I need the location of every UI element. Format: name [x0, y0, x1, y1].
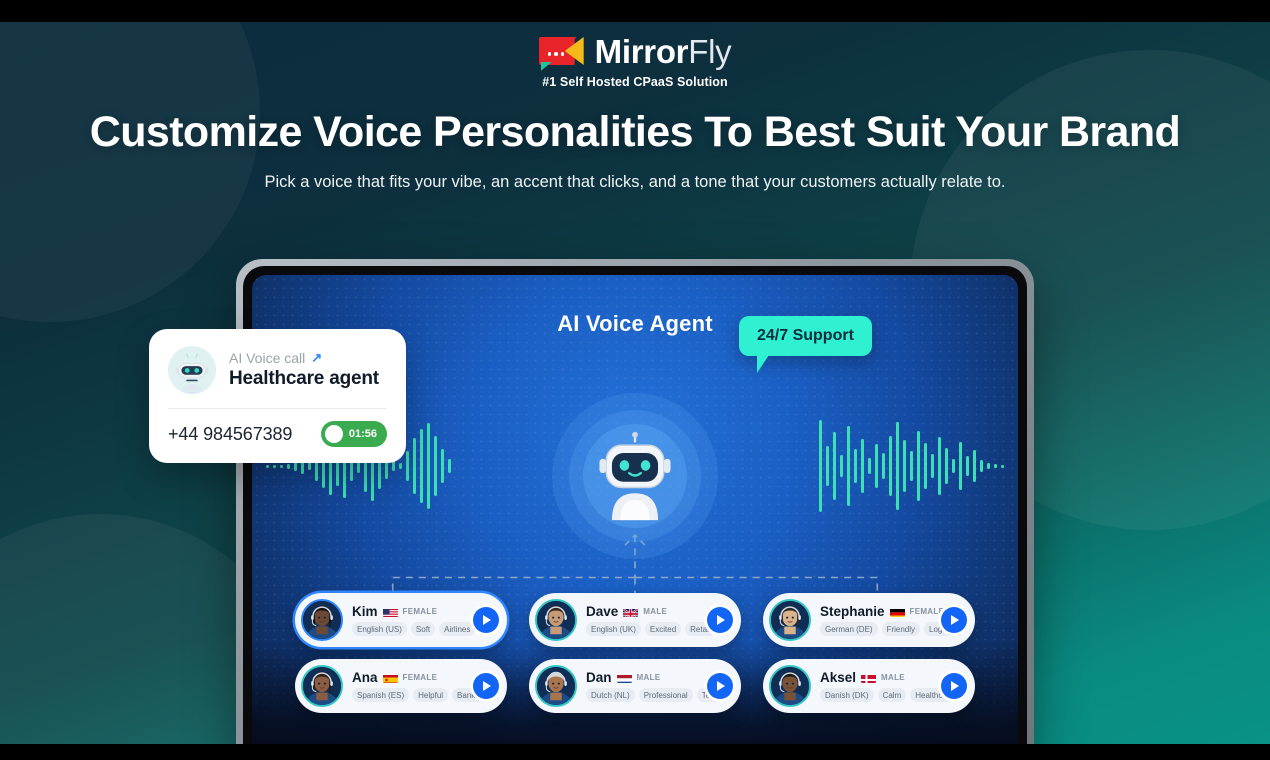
avatar — [535, 665, 577, 707]
voice-card-body: DanMALEDutch (NL)ProfessionalTelco — [586, 670, 698, 702]
voice-name: Dave — [586, 604, 618, 619]
letterbox-bottom — [0, 744, 1270, 760]
flag-icon-nl — [617, 672, 632, 683]
play-icon[interactable] — [707, 607, 733, 633]
voice-tags: Dutch (NL)ProfessionalTelco — [586, 688, 698, 702]
voice-tags: Danish (DK)CalmHealthcare — [820, 688, 932, 702]
arrow-up-right-icon: ↗ — [311, 350, 322, 366]
support-badge-label: 24/7 Support — [757, 327, 854, 344]
voice-card-heading: StephanieFEMALE — [820, 604, 932, 619]
brand-tagline: #1 Self Hosted CPaaS Solution — [0, 75, 1270, 89]
page-subtitle: Pick a voice that fits your vibe, an acc… — [0, 173, 1270, 192]
voice-gender: MALE — [881, 673, 905, 682]
voice-tag: Airlines — [439, 622, 475, 636]
voice-gender: FEMALE — [910, 607, 945, 616]
voice-tag: German (DE) — [820, 622, 878, 636]
avatar — [535, 599, 577, 641]
voice-card-dave[interactable]: DaveMALEEnglish (UK)ExcitedRetail — [529, 593, 741, 647]
avatar — [769, 665, 811, 707]
play-icon[interactable] — [941, 607, 967, 633]
voice-tag: Soft — [411, 622, 435, 636]
avatar — [168, 346, 216, 394]
play-icon[interactable] — [707, 673, 733, 699]
voice-card-heading: KimFEMALE — [352, 604, 464, 619]
hero-header: MirrorFly #1 Self Hosted CPaaS Solution … — [0, 0, 1270, 192]
voice-card-heading: DanMALE — [586, 670, 698, 685]
call-card-footer: +44 984567389 01:56 — [168, 421, 387, 447]
voice-tag: Calm — [878, 688, 907, 702]
voice-tag: Dutch (NL) — [586, 688, 635, 702]
flag-icon-de — [890, 606, 905, 617]
voice-tag: English (UK) — [586, 622, 641, 636]
voice-card-aksel[interactable]: AkselMALEDanish (DK)CalmHealthcare — [763, 659, 975, 713]
flag-icon-us — [383, 606, 398, 617]
call-type-text: AI Voice call — [229, 350, 305, 366]
agent-name: Healthcare agent — [229, 368, 387, 390]
voice-gender: FEMALE — [403, 673, 438, 682]
voice-tags: German (DE)FriendlyLogistics — [820, 622, 932, 636]
brand-name-bold: Mirror — [595, 33, 689, 70]
voice-tag: Friendly — [882, 622, 920, 636]
voice-tags: English (UK)ExcitedRetail — [586, 622, 698, 636]
voice-name: Stephanie — [820, 604, 885, 619]
voice-column-2: DaveMALEEnglish (UK)ExcitedRetailDanMALE… — [529, 593, 741, 713]
voice-name: Aksel — [820, 670, 856, 685]
mirrorfly-chat-logo-icon — [539, 35, 585, 69]
voice-card-body: DaveMALEEnglish (UK)ExcitedRetail — [586, 604, 698, 636]
voice-card-heading: DaveMALE — [586, 604, 698, 619]
voice-tag: Professional — [639, 688, 693, 702]
voice-tag: English (US) — [352, 622, 407, 636]
phone-number: +44 984567389 — [168, 424, 292, 445]
voice-gender: MALE — [643, 607, 667, 616]
voice-card-body: KimFEMALEEnglish (US)SoftAirlines — [352, 604, 464, 636]
screenshot-stage: MirrorFly #1 Self Hosted CPaaS Solution … — [0, 0, 1270, 760]
robot-avatar-icon — [168, 346, 216, 394]
timer-knob-icon — [325, 425, 343, 443]
voice-tags: English (US)SoftAirlines — [352, 622, 464, 636]
flag-icon-es — [383, 672, 398, 683]
call-card-meta: AI Voice call ↗ Healthcare agent — [229, 350, 387, 390]
divider — [168, 408, 387, 409]
support-badge: 24/7 Support — [739, 316, 872, 356]
play-icon[interactable] — [473, 607, 499, 633]
play-icon[interactable] — [941, 673, 967, 699]
avatar — [301, 665, 343, 707]
voice-card-stephanie[interactable]: StephanieFEMALEGerman (DE)FriendlyLogist… — [763, 593, 975, 647]
voice-name: Dan — [586, 670, 612, 685]
voice-card-body: StephanieFEMALEGerman (DE)FriendlyLogist… — [820, 604, 932, 636]
robot-avatar-icon — [587, 428, 683, 524]
voice-card-dan[interactable]: DanMALEDutch (NL)ProfessionalTelco — [529, 659, 741, 713]
brand-name-light: Fly — [688, 33, 731, 70]
voice-tag: Danish (DK) — [820, 688, 874, 702]
voice-gender: MALE — [637, 673, 661, 682]
call-type-label: AI Voice call ↗ — [229, 350, 387, 366]
voice-tag: Helpful — [413, 688, 448, 702]
flag-icon-dk — [861, 672, 876, 683]
ai-voice-call-card[interactable]: AI Voice call ↗ Healthcare agent +44 984… — [149, 329, 406, 463]
support-badge-tail — [757, 355, 769, 373]
ai-agent-hub — [552, 393, 718, 559]
voice-card-kim[interactable]: KimFEMALEEnglish (US)SoftAirlines — [295, 593, 507, 647]
letterbox-top — [0, 0, 1270, 22]
voice-column-1: KimFEMALEEnglish (US)SoftAirlinesAnaFEMA… — [295, 593, 507, 713]
flag-icon-gb — [623, 606, 638, 617]
voice-card-heading: AkselMALE — [820, 670, 932, 685]
avatar — [769, 599, 811, 641]
voice-card-heading: AnaFEMALE — [352, 670, 464, 685]
voice-card-ana[interactable]: AnaFEMALESpanish (ES)HelpfulBanking — [295, 659, 507, 713]
call-duration: 01:56 — [349, 428, 377, 440]
play-icon[interactable] — [473, 673, 499, 699]
page-title: Customize Voice Personalities To Best Su… — [0, 108, 1270, 157]
voice-gender: FEMALE — [403, 607, 438, 616]
avatar — [301, 599, 343, 641]
voice-name: Kim — [352, 604, 378, 619]
voice-column-3: StephanieFEMALEGerman (DE)FriendlyLogist… — [763, 593, 975, 713]
voice-tag: Spanish (ES) — [352, 688, 409, 702]
voice-tags: Spanish (ES)HelpfulBanking — [352, 688, 464, 702]
call-timer-badge: 01:56 — [321, 421, 387, 447]
voice-card-body: AnaFEMALESpanish (ES)HelpfulBanking — [352, 670, 464, 702]
brand-name: MirrorFly — [595, 33, 732, 71]
voice-name: Ana — [352, 670, 378, 685]
voice-card-body: AkselMALEDanish (DK)CalmHealthcare — [820, 670, 932, 702]
voice-tag: Excited — [645, 622, 681, 636]
voice-card-grid: KimFEMALEEnglish (US)SoftAirlinesAnaFEMA… — [252, 593, 1018, 713]
call-card-header: AI Voice call ↗ Healthcare agent — [168, 346, 387, 394]
